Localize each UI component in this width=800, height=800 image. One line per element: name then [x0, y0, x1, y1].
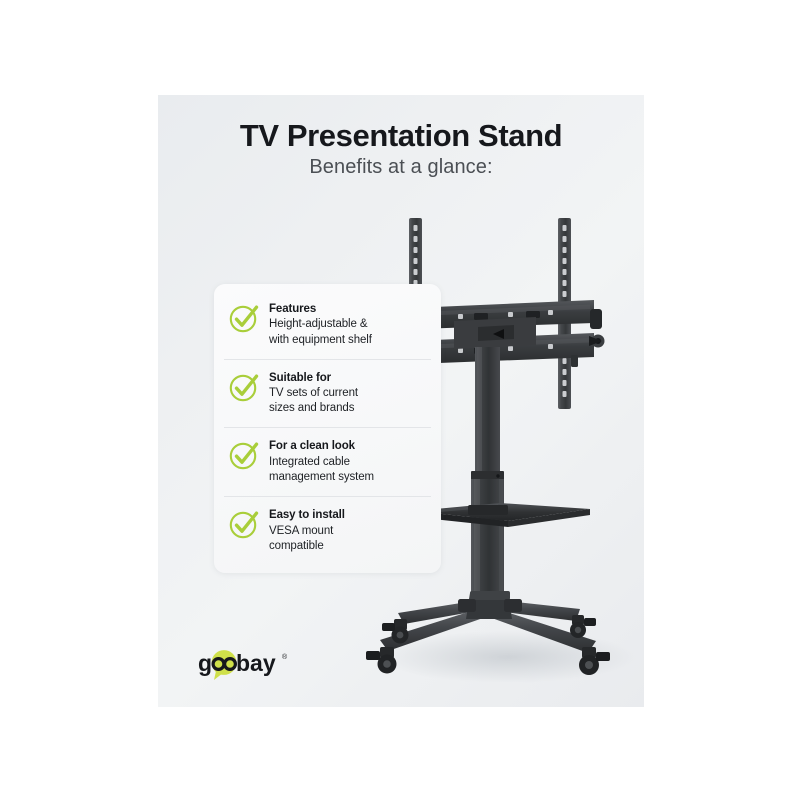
benefit-text: For a clean look Integrated cablemanagem…: [269, 438, 374, 485]
castor-front-left: [366, 647, 397, 674]
check-circle-icon: [228, 508, 260, 540]
benefit-item-easy-to-install: Easy to install VESA mountcompatible: [214, 496, 441, 565]
benefits-card: Features Height-adjustable &with equipme…: [214, 284, 441, 573]
benefit-description: Height-adjustable &with equipment shelf: [269, 317, 372, 347]
benefit-text: Suitable for TV sets of currentsizes and…: [269, 370, 358, 417]
benefit-description: TV sets of currentsizes and brands: [269, 386, 358, 416]
logo-text-after: bay: [236, 650, 276, 676]
benefit-title: For a clean look: [269, 439, 374, 453]
infographic-panel: TV Presentation Stand Benefits at a glan…: [158, 95, 644, 707]
page-root: TV Presentation Stand Benefits at a glan…: [0, 0, 800, 800]
benefit-description: Integrated cablemanagement system: [269, 455, 374, 485]
benefit-item-for-a-clean-look: For a clean look Integrated cablemanagem…: [214, 427, 441, 496]
page-title: TV Presentation Stand: [158, 119, 644, 153]
page-subtitle: Benefits at a glance:: [158, 155, 644, 179]
benefit-text: Features Height-adjustable &with equipme…: [269, 301, 372, 348]
check-circle-icon: [228, 302, 260, 334]
right-lock-knob: [590, 309, 602, 329]
goobay-logo: g bay ®: [190, 648, 310, 682]
benefit-title: Suitable for: [269, 371, 358, 385]
benefit-title: Easy to install: [269, 508, 345, 522]
benefit-title: Features: [269, 302, 372, 316]
check-circle-icon: [228, 439, 260, 471]
benefit-item-suitable-for: Suitable for TV sets of currentsizes and…: [214, 359, 441, 428]
telescoping-column: [471, 347, 504, 599]
logo-text-before: g: [198, 650, 212, 676]
castor-rear-right: [570, 615, 596, 638]
benefit-description: VESA mountcompatible: [269, 524, 345, 554]
logo-trademark-icon: ®: [282, 653, 288, 661]
benefit-item-features: Features Height-adjustable &with equipme…: [214, 290, 441, 359]
benefit-text: Easy to install VESA mountcompatible: [269, 507, 345, 554]
check-circle-icon: [228, 371, 260, 403]
